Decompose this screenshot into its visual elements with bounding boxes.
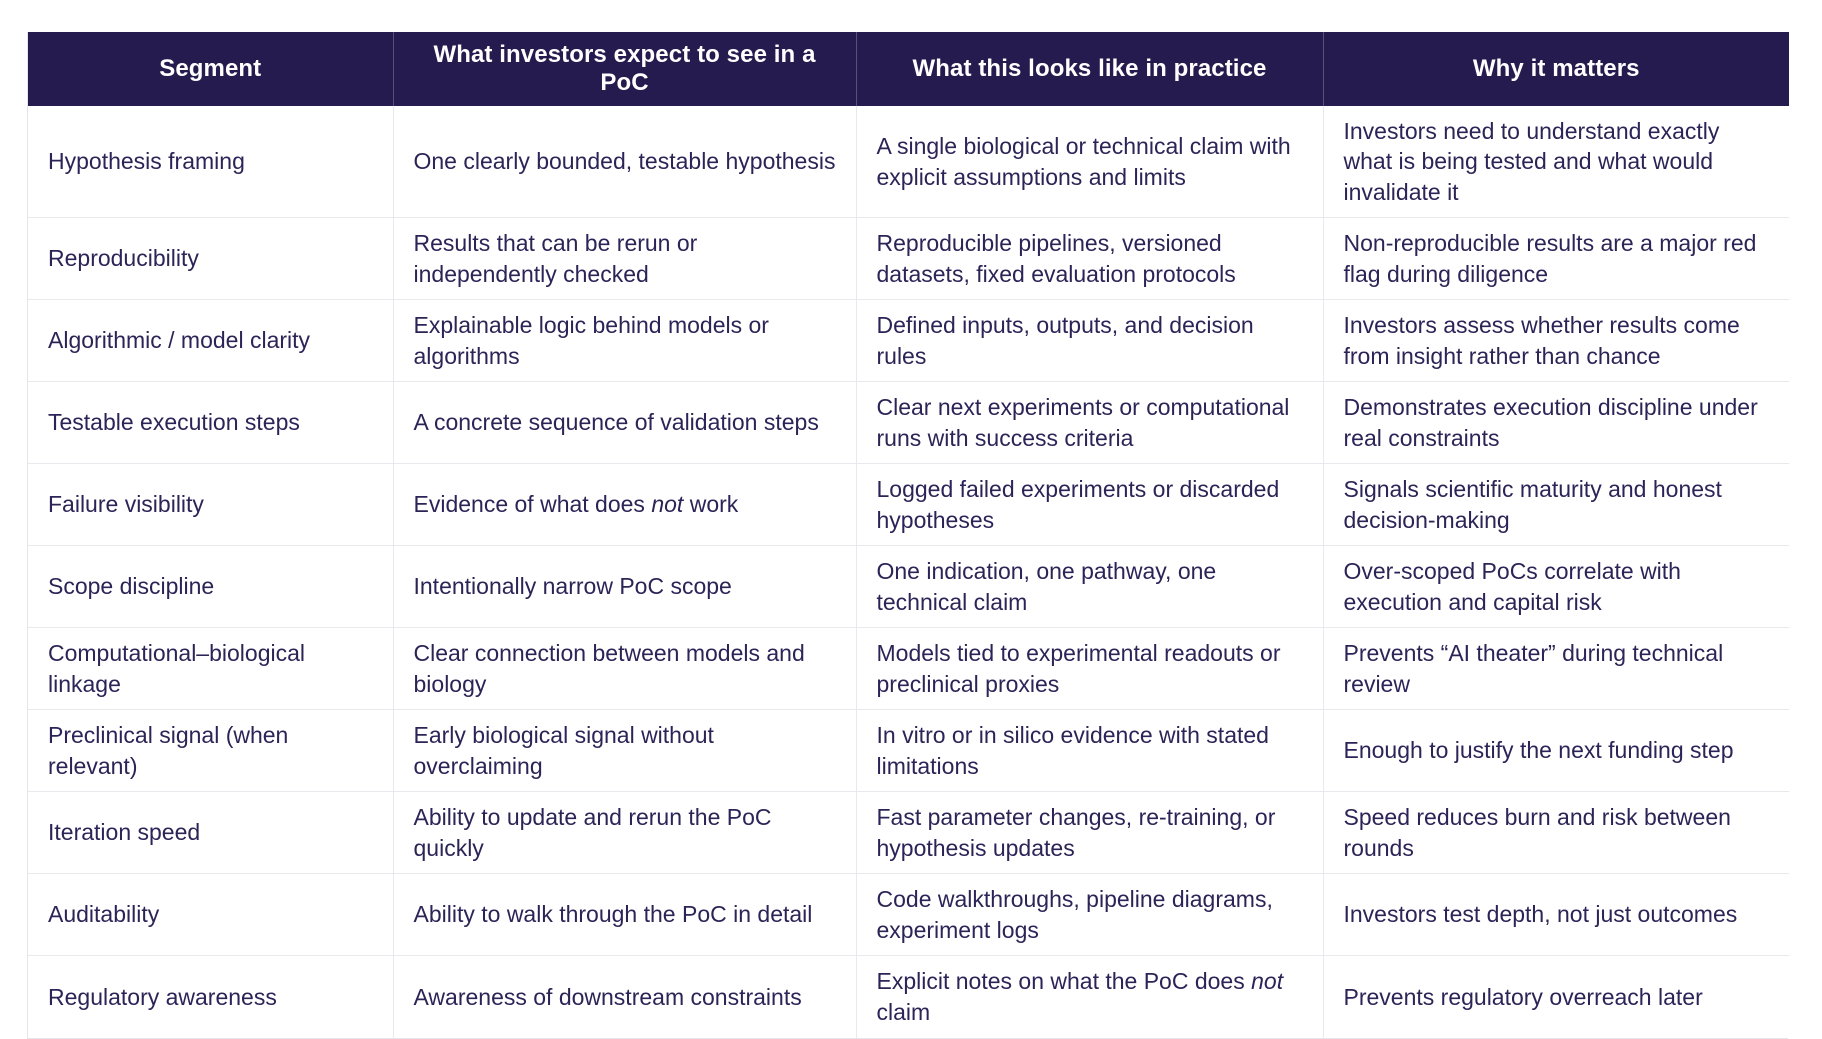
column-header-investor-expectation: What investors expect to see in a PoC bbox=[393, 32, 856, 106]
segment-cell: Algorithmic / model clarity bbox=[28, 300, 393, 382]
column-header-why-it-matters: Why it matters bbox=[1323, 32, 1789, 106]
practice-cell: Reproducible pipelines, versioned datase… bbox=[856, 218, 1323, 300]
segment-cell: Failure visibility bbox=[28, 464, 393, 546]
why-it-matters-cell: Enough to justify the next funding step bbox=[1323, 710, 1789, 792]
practice-cell: One indication, one pathway, one technic… bbox=[856, 546, 1323, 628]
practice-cell: Logged failed experiments or discarded h… bbox=[856, 464, 1323, 546]
why-it-matters-cell: Investors need to understand exactly wha… bbox=[1323, 106, 1789, 218]
segment-cell: Reproducibility bbox=[28, 218, 393, 300]
segment-cell: Iteration speed bbox=[28, 792, 393, 874]
investor-expectation-cell: Results that can be rerun or independent… bbox=[393, 218, 856, 300]
emphasized-text: not bbox=[1251, 968, 1283, 994]
investor-expectation-cell: Early biological signal without overclai… bbox=[393, 710, 856, 792]
investor-expectation-cell: Ability to walk through the PoC in detai… bbox=[393, 874, 856, 956]
table-row: Scope disciplineIntentionally narrow PoC… bbox=[28, 546, 1789, 628]
table-row: Hypothesis framingOne clearly bounded, t… bbox=[28, 106, 1789, 218]
practice-cell: Code walkthroughs, pipeline diagrams, ex… bbox=[856, 874, 1323, 956]
column-header-practice: What this looks like in practice bbox=[856, 32, 1323, 106]
why-it-matters-cell: Prevents “AI theater” during technical r… bbox=[1323, 628, 1789, 710]
segment-cell: Computational–biological linkage bbox=[28, 628, 393, 710]
table-row: AuditabilityAbility to walk through the … bbox=[28, 874, 1789, 956]
why-it-matters-cell: Prevents regulatory overreach later bbox=[1323, 956, 1789, 1038]
practice-cell: Clear next experiments or computational … bbox=[856, 382, 1323, 464]
investor-expectation-cell: Clear connection between models and biol… bbox=[393, 628, 856, 710]
column-header-segment: Segment bbox=[28, 32, 393, 106]
why-it-matters-cell: Signals scientific maturity and honest d… bbox=[1323, 464, 1789, 546]
segment-cell: Scope discipline bbox=[28, 546, 393, 628]
practice-cell: In vitro or in silico evidence with stat… bbox=[856, 710, 1323, 792]
why-it-matters-cell: Investors test depth, not just outcomes bbox=[1323, 874, 1789, 956]
header-row: Segment What investors expect to see in … bbox=[28, 32, 1789, 106]
table-row: Regulatory awarenessAwareness of downstr… bbox=[28, 956, 1789, 1038]
table-body: Hypothesis framingOne clearly bounded, t… bbox=[28, 106, 1789, 1038]
poc-expectations-table-container: Segment What investors expect to see in … bbox=[27, 32, 1788, 1039]
page-root: Segment What investors expect to see in … bbox=[0, 0, 1822, 1020]
table-row: Algorithmic / model clarityExplainable l… bbox=[28, 300, 1789, 382]
investor-expectation-cell: Awareness of downstream constraints bbox=[393, 956, 856, 1038]
segment-cell: Hypothesis framing bbox=[28, 106, 393, 218]
table-row: Testable execution stepsA concrete seque… bbox=[28, 382, 1789, 464]
emphasized-text: not bbox=[651, 491, 683, 517]
why-it-matters-cell: Demonstrates execution discipline under … bbox=[1323, 382, 1789, 464]
why-it-matters-cell: Non-reproducible results are a major red… bbox=[1323, 218, 1789, 300]
practice-cell: Models tied to experimental readouts or … bbox=[856, 628, 1323, 710]
investor-expectation-cell: Evidence of what does not work bbox=[393, 464, 856, 546]
why-it-matters-cell: Speed reduces burn and risk between roun… bbox=[1323, 792, 1789, 874]
segment-cell: Testable execution steps bbox=[28, 382, 393, 464]
investor-expectation-cell: Explainable logic behind models or algor… bbox=[393, 300, 856, 382]
investor-expectation-cell: One clearly bounded, testable hypothesis bbox=[393, 106, 856, 218]
practice-cell: Defined inputs, outputs, and decision ru… bbox=[856, 300, 1323, 382]
table-row: Preclinical signal (when relevant)Early … bbox=[28, 710, 1789, 792]
why-it-matters-cell: Over-scoped PoCs correlate with executio… bbox=[1323, 546, 1789, 628]
investor-expectation-cell: Intentionally narrow PoC scope bbox=[393, 546, 856, 628]
investor-expectation-cell: Ability to update and rerun the PoC quic… bbox=[393, 792, 856, 874]
segment-cell: Auditability bbox=[28, 874, 393, 956]
why-it-matters-cell: Investors assess whether results come fr… bbox=[1323, 300, 1789, 382]
table-row: ReproducibilityResults that can be rerun… bbox=[28, 218, 1789, 300]
table-row: Iteration speedAbility to update and rer… bbox=[28, 792, 1789, 874]
practice-cell: Fast parameter changes, re-training, or … bbox=[856, 792, 1323, 874]
segment-cell: Regulatory awareness bbox=[28, 956, 393, 1038]
investor-expectation-cell: A concrete sequence of validation steps bbox=[393, 382, 856, 464]
table-header: Segment What investors expect to see in … bbox=[28, 32, 1789, 106]
practice-cell: Explicit notes on what the PoC does not … bbox=[856, 956, 1323, 1038]
segment-cell: Preclinical signal (when relevant) bbox=[28, 710, 393, 792]
table-row: Computational–biological linkageClear co… bbox=[28, 628, 1789, 710]
poc-expectations-table: Segment What investors expect to see in … bbox=[28, 32, 1789, 1038]
practice-cell: A single biological or technical claim w… bbox=[856, 106, 1323, 218]
table-row: Failure visibilityEvidence of what does … bbox=[28, 464, 1789, 546]
